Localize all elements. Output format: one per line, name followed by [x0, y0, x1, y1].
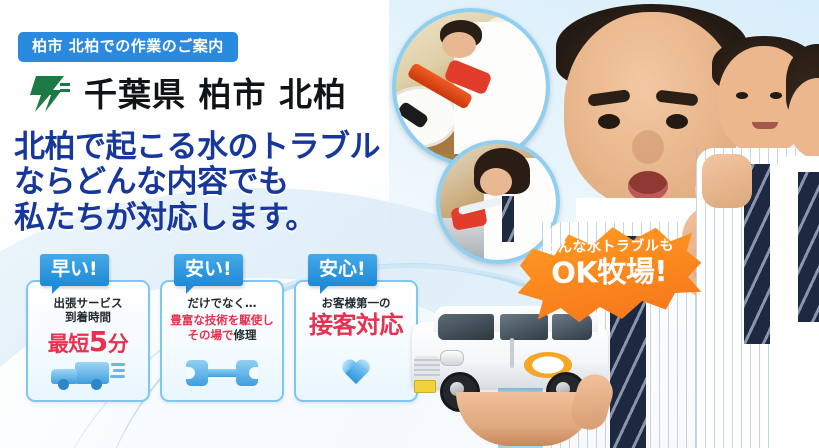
card-main-value: 最短5分 — [28, 327, 148, 356]
headline-line-3: 私たちが対応します。 — [14, 201, 380, 236]
card-body: 出張サービス 到着時間 最短5分 — [26, 280, 150, 402]
card-body-line-1: 豊富な技術を駆使し — [162, 313, 282, 328]
necktie — [798, 172, 819, 322]
starburst-big-text: OK牧場! — [516, 255, 703, 289]
card-body-line-2-dark: 修理 — [234, 328, 257, 342]
card-body: だけでなく… 豊富な技術を駆使し その場で修理 — [160, 280, 284, 402]
headline-line-1: 北柏で起こる水のトラブル — [14, 130, 380, 165]
card-tab-label: 安心! — [308, 254, 377, 286]
card-body-line-2-red: その場で — [188, 328, 234, 342]
starburst-small-text: どんな水トラブルも — [516, 238, 702, 255]
card-main-suffix: 分 — [108, 332, 129, 356]
region-title: 千葉県 柏市 北柏 — [84, 78, 347, 111]
location-ribbon-badge: 柏市 北柏での作業のご案内 — [18, 32, 238, 62]
fist-icon — [702, 154, 752, 208]
wrench-icon — [186, 360, 258, 386]
card-body-line-2: その場で修理 — [162, 328, 282, 343]
card-main-prefix: 最短 — [48, 332, 89, 356]
card-icon-slot — [162, 360, 282, 394]
photo-toilet-repair — [392, 8, 550, 166]
heart-icon — [341, 360, 371, 388]
service-banner: 柏市 北柏での作業のご案内 千葉県 柏市 北柏 北柏で起こる水のトラブル ならど… — [0, 0, 819, 448]
card-sub-line-1: お客様第一の — [296, 296, 416, 310]
feature-card-list: 早い! 出張サービス 到着時間 最短5分 安い! だけでなく… — [26, 280, 418, 402]
card-icon-slot — [28, 360, 148, 394]
card-main-value: 接客対応 — [296, 313, 416, 338]
headline-line-2: ならどんな内容でも — [14, 165, 380, 200]
card-sub-line-2: 到着時間 — [28, 310, 148, 324]
starburst-text: どんな水トラブルも OK牧場! — [516, 238, 703, 289]
green-lightning-logo-icon — [24, 74, 70, 114]
delivery-truck-icon — [51, 360, 125, 390]
feature-card-cheap: 安い! だけでなく… 豊富な技術を駆使し その場で修理 — [160, 280, 284, 402]
card-sub-line-1: 出張サービス — [28, 296, 148, 310]
feature-card-fast: 早い! 出張サービス 到着時間 最短5分 — [26, 280, 150, 402]
card-tab-label: 早い! — [40, 254, 109, 286]
card-sub-line-1: だけでなく… — [162, 296, 282, 310]
page-title: 北柏で起こる水のトラブル ならどんな内容でも 私たちが対応します。 — [14, 130, 380, 236]
staff-member-right — [786, 44, 819, 448]
card-tab-label: 安い! — [174, 254, 243, 286]
service-van — [400, 296, 630, 448]
region-header: 千葉県 柏市 北柏 — [24, 74, 347, 114]
card-icon-slot — [296, 360, 416, 394]
card-main-number: 5 — [89, 325, 108, 358]
